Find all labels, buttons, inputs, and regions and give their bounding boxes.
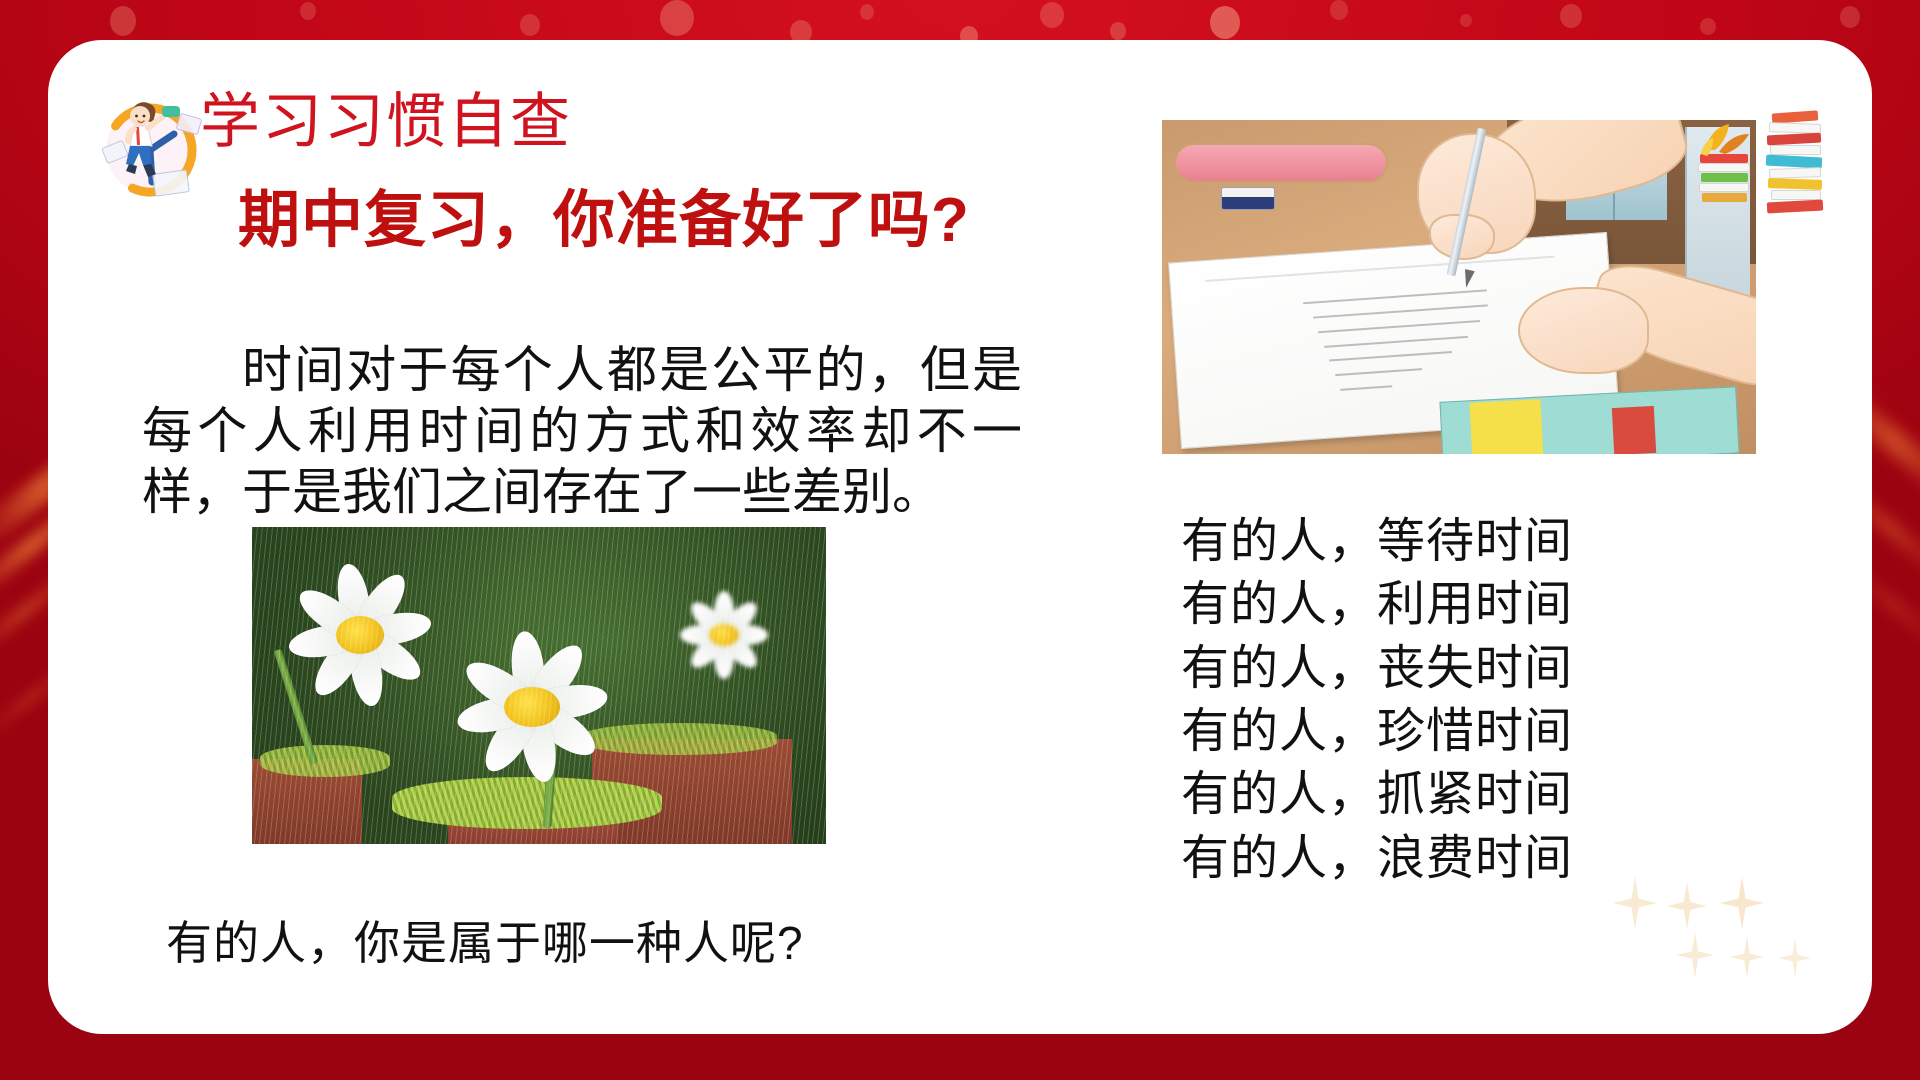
page-title: 学习习惯自查 (200, 92, 572, 152)
list-item: 有的人，利用时间 (1181, 573, 1573, 636)
bokeh-particle (860, 4, 874, 20)
textbook-spine (1469, 399, 1543, 454)
time-attitude-list: 有的人，等待时间 有的人，利用时间 有的人，丧失时间 有的人，珍惜时间 有的人，… (1181, 510, 1573, 890)
flower-caption: 有的人，你是属于哪一种人呢? (166, 907, 804, 973)
pencil-case (1174, 143, 1388, 183)
bokeh-particle (110, 6, 136, 36)
sparkle-icon (1779, 938, 1811, 978)
slide-background: 学习习惯自查 期中复习，你准备好了吗? 时间对于每个人都是公平的，但是每个人利用… (0, 0, 1920, 1080)
list-item: 有的人，抓紧时间 (1181, 763, 1573, 826)
book-stack-right-icon (1766, 112, 1832, 216)
resting-hand (1518, 287, 1649, 374)
sparkle-icon (1730, 936, 1764, 978)
list-item: 有的人，等待时间 (1181, 510, 1573, 573)
page-title-row: 学习习惯自查 (200, 92, 572, 152)
flower-photo (252, 527, 826, 844)
rain-overlay (252, 527, 826, 844)
bokeh-particle (520, 14, 540, 36)
bokeh-particle (300, 2, 316, 20)
sparkle-icon (1720, 876, 1764, 930)
bokeh-particle (1460, 14, 1472, 27)
bokeh-particle (1330, 0, 1348, 20)
book-stack-left-icon (1698, 120, 1758, 210)
bokeh-particle (660, 0, 694, 36)
list-item: 有的人，浪费时间 (1181, 827, 1573, 890)
textbook-marker (1612, 406, 1656, 454)
page-subtitle: 期中复习，你准备好了吗? (238, 190, 970, 252)
bokeh-particle (1210, 6, 1240, 39)
study-photo (1162, 120, 1756, 454)
bokeh-particle (1840, 6, 1860, 28)
bokeh-particle (1700, 18, 1716, 35)
bokeh-particle (1040, 2, 1064, 28)
sparkle-icon (1676, 932, 1714, 978)
list-item: 有的人，珍惜时间 (1181, 700, 1573, 763)
sparkle-icon (1667, 882, 1707, 930)
clock-student-icon (88, 88, 212, 204)
sparkle-icon (1613, 876, 1657, 930)
intro-paragraph: 时间对于每个人都是公平的，但是每个人利用时间的方式和效率却不一样，于是我们之间存… (142, 340, 1022, 523)
slide-card: 学习习惯自查 期中复习，你准备好了吗? 时间对于每个人都是公平的，但是每个人利用… (48, 40, 1872, 1034)
eraser (1221, 187, 1274, 210)
bokeh-particle (1560, 4, 1582, 28)
list-item: 有的人，丧失时间 (1181, 637, 1573, 700)
bokeh-particle (1110, 22, 1126, 40)
